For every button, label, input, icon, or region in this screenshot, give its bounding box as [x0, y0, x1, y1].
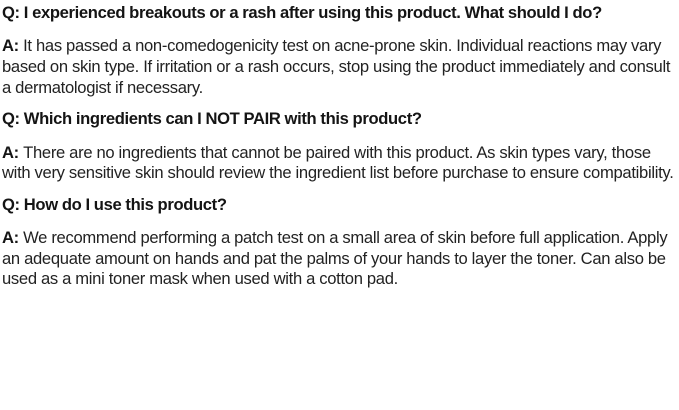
faq-block: Q: Which ingredients can I NOT PAIR with…: [2, 109, 678, 184]
faq-block: Q: How do I use this product? A: We reco…: [2, 195, 678, 290]
faq-block: Q: I experienced breakouts or a rash aft…: [2, 3, 678, 98]
answer-body-text: We recommend performing a patch test on …: [2, 228, 667, 288]
faq-answer: A: We recommend performing a patch test …: [2, 228, 678, 290]
faq-question: Q: How do I use this product?: [2, 195, 678, 215]
faq-document: Q: I experienced breakouts or a rash aft…: [0, 0, 679, 410]
faq-question: Q: Which ingredients can I NOT PAIR with…: [2, 109, 678, 129]
answer-prefix-label: A:: [2, 36, 23, 55]
answer-prefix-label: A:: [2, 228, 23, 247]
answer-prefix-label: A:: [2, 143, 23, 162]
answer-body-text: It has passed a non-comedogenicity test …: [2, 36, 670, 96]
faq-answer: A: There are no ingredients that cannot …: [2, 143, 678, 184]
faq-answer: A: It has passed a non-comedogenicity te…: [2, 36, 678, 98]
faq-question: Q: I experienced breakouts or a rash aft…: [2, 3, 678, 23]
answer-body-text: There are no ingredients that cannot be …: [2, 143, 674, 183]
